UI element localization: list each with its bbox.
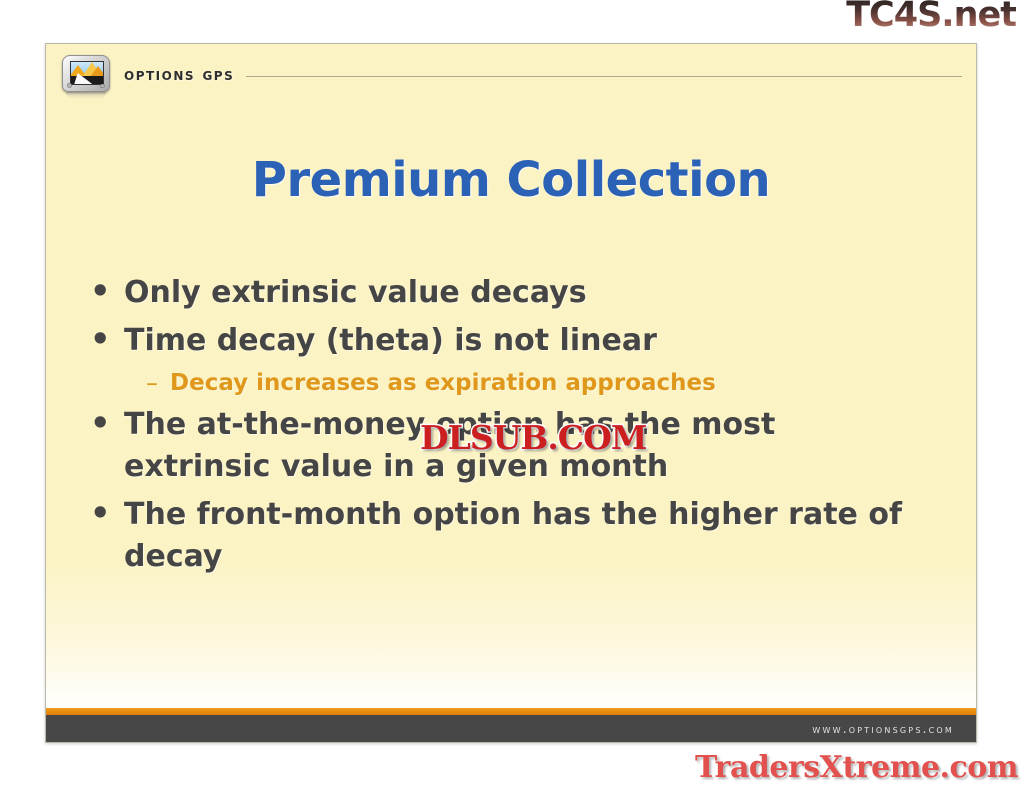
brand-wordmark: Options GPS (124, 65, 234, 85)
bullet-marker-icon: • (90, 494, 124, 532)
list-item-label: Time decay (theta) is not linear (124, 320, 657, 362)
dash-marker-icon: – (146, 368, 170, 398)
tradersxtreme-watermark: TradersXtreme.com (695, 750, 1018, 785)
sub-list-item: – Decay increases as expiration approach… (88, 368, 948, 398)
sub-list-item-label: Decay increases as expiration approaches (170, 368, 716, 398)
list-item-label: Only extrinsic value decays (124, 272, 587, 314)
list-item: • Time decay (theta) is not linear (88, 320, 948, 362)
dlsub-watermark: DLSUB.COM (420, 418, 646, 457)
list-item-label: The front-month option has the higher ra… (124, 494, 914, 578)
list-item: • Only extrinsic value decays (88, 272, 948, 314)
bullet-marker-icon: • (90, 272, 124, 310)
bullet-marker-icon: • (90, 320, 124, 358)
header-divider (246, 76, 962, 77)
tc4s-watermark: TC4S.net (846, 0, 1016, 33)
footer-url-label: www.OptionsGPS.com (812, 722, 954, 736)
slide-header: Options GPS (46, 44, 976, 106)
bullet-marker-icon: • (90, 404, 124, 442)
footer-accent-bar (46, 708, 976, 715)
page-title: Premium Collection (46, 152, 976, 208)
list-item: • The front-month option has the higher … (88, 494, 948, 578)
slide-footer: www.OptionsGPS.com (46, 715, 976, 742)
presentation-slide: Options GPS Premium Collection • Only ex… (45, 43, 977, 743)
gps-device-icon (62, 55, 110, 95)
